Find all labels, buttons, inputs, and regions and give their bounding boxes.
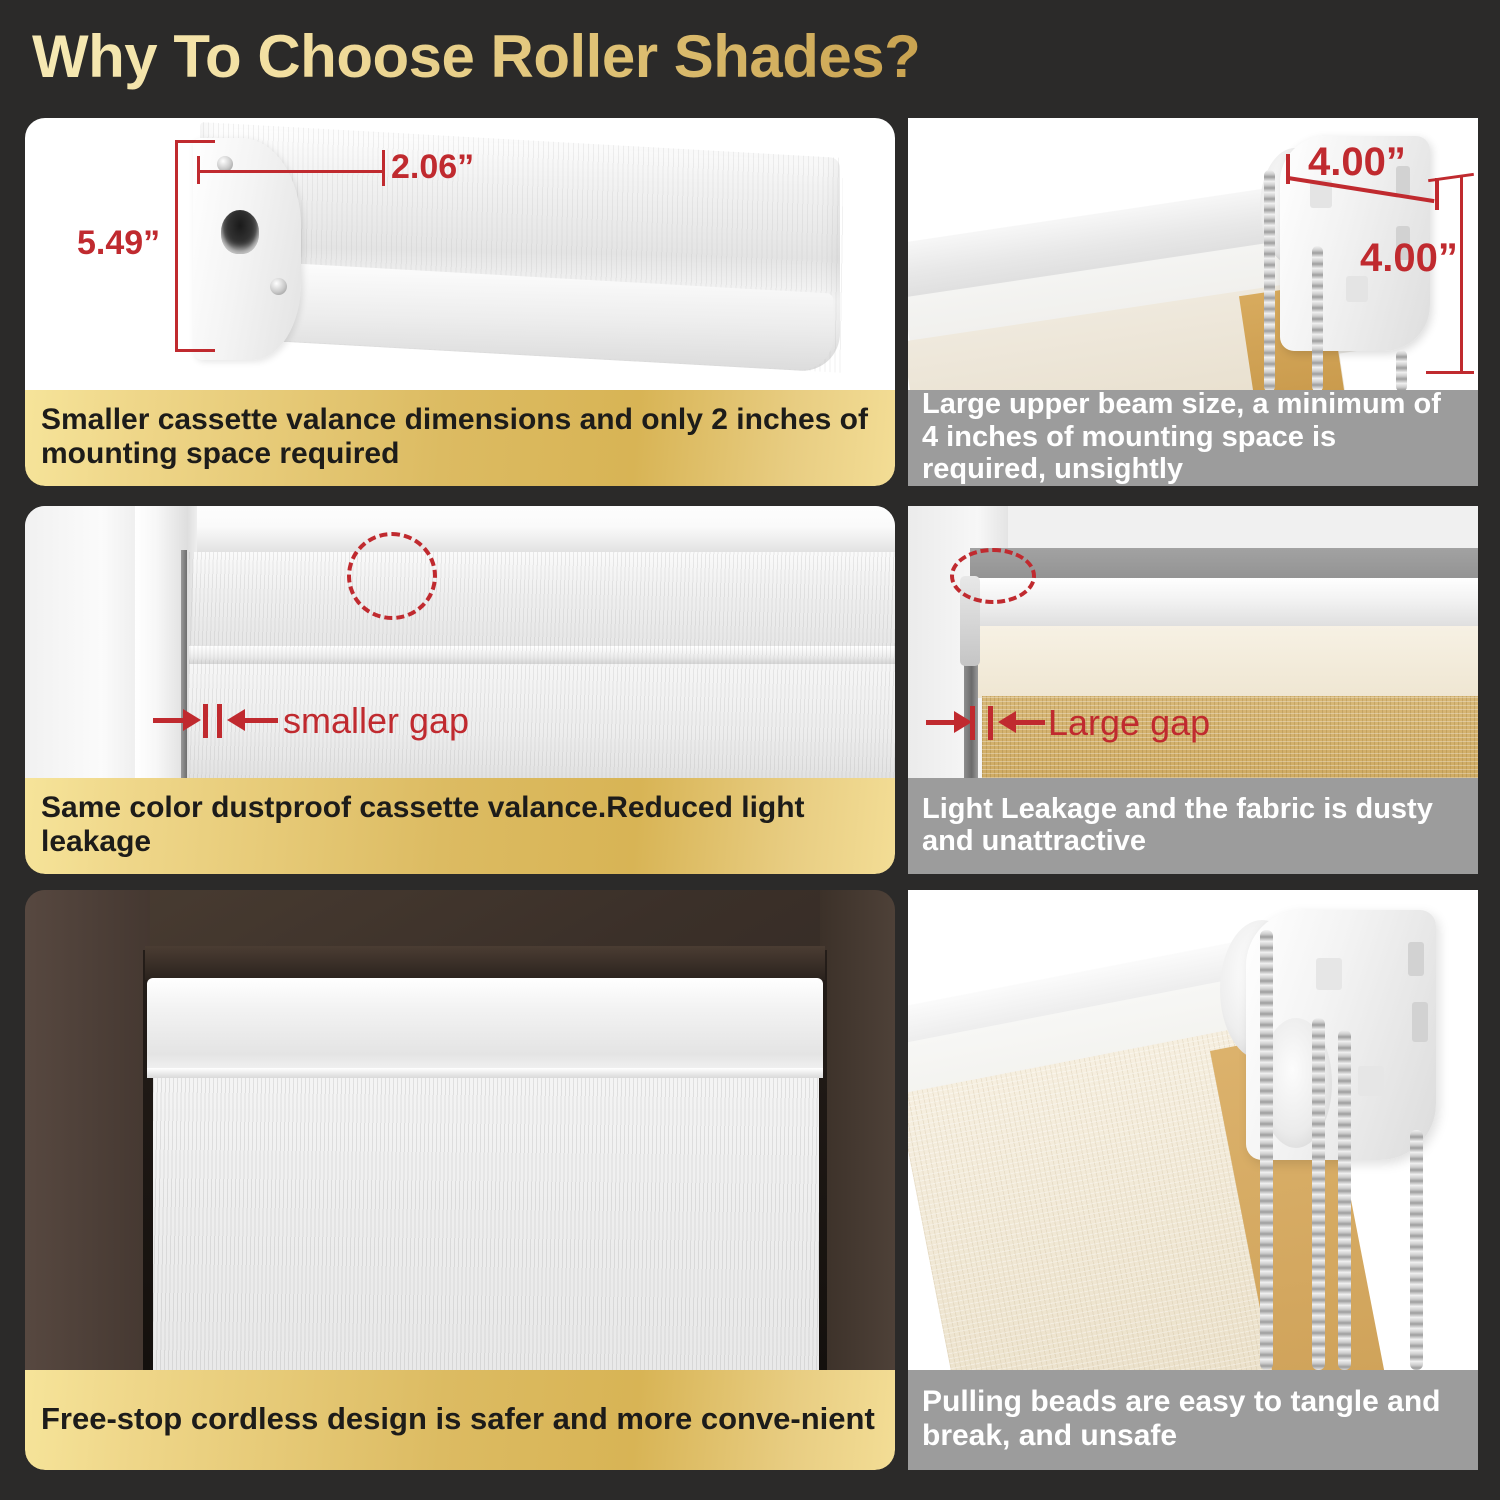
wall-left xyxy=(25,890,150,1370)
bracket-slot xyxy=(1412,1002,1428,1042)
gap-callout-label: smaller gap xyxy=(283,700,469,742)
gap-tick-b xyxy=(217,704,222,738)
bead-chain[interactable] xyxy=(1260,930,1273,1370)
bead-chain xyxy=(1396,350,1407,390)
panel-bad-gap-photo: Large gap xyxy=(908,506,1478,778)
infographic-page: Why To Choose Roller Shades? 5.49” xyxy=(0,0,1500,1500)
window-frame-top xyxy=(135,506,895,552)
width-dimension-tick-right xyxy=(1435,178,1439,210)
bead-chain[interactable] xyxy=(1338,1030,1351,1370)
gap-shadow xyxy=(181,550,187,778)
gap-arrow-right-head xyxy=(227,709,245,731)
width-dimension-label: 4.00” xyxy=(1308,140,1406,185)
panel-good-cordless-caption: Free-stop cordless design is safer and m… xyxy=(25,1370,895,1470)
bead-chain xyxy=(1312,246,1323,390)
panel-good-gap-caption: Same color dustproof cassette valance.Re… xyxy=(25,778,895,874)
width-dimension-tick-left xyxy=(197,156,200,184)
shade-fabric-cream xyxy=(974,626,1478,698)
bead-chain[interactable] xyxy=(1410,1130,1423,1370)
panel-good-cordless: Free-stop cordless design is safer and m… xyxy=(25,890,895,1470)
shade-fabric-texture xyxy=(153,1078,819,1370)
gap-arrow-left-shaft xyxy=(153,718,185,723)
panel-bad-gap-caption: Light Leakage and the fabric is dusty an… xyxy=(908,778,1478,874)
panel-good-gap: smaller gap Same color dustproof cassett… xyxy=(25,506,895,874)
panel-grid: 5.49” 2.06” Smaller cassette valance dim… xyxy=(0,0,1500,1500)
panel-good-dimensions-photo: 5.49” 2.06” xyxy=(25,118,895,390)
bead-chain[interactable] xyxy=(1312,1018,1325,1370)
wall-surface xyxy=(25,506,153,778)
width-dimension-line xyxy=(197,170,385,173)
panel-bad-dimensions-photo: 4.00” 4.00” xyxy=(908,118,1478,390)
height-dimension-label: 4.00” xyxy=(1360,236,1458,281)
height-dimension-line xyxy=(175,140,178,352)
gap-tick-a xyxy=(203,704,208,738)
height-dimension-tick-bottom xyxy=(175,349,215,352)
gap-arrow-left-shaft xyxy=(926,720,956,725)
highlight-circle xyxy=(950,548,1036,604)
panel-good-dimensions-caption: Smaller cassette valance dimensions and … xyxy=(25,390,895,486)
gap-arrow-right-head xyxy=(998,711,1016,733)
bracket-slot xyxy=(1408,942,1424,976)
panel-bad-dimensions: 4.00” 4.00” Large upper beam size, a min… xyxy=(908,118,1478,486)
highlight-circle xyxy=(347,532,437,620)
window-frame-side xyxy=(135,506,197,778)
wall-right xyxy=(820,890,895,1370)
gap-arrow-left-head xyxy=(183,709,201,731)
gap-tick-b xyxy=(988,706,993,740)
gap-tick-a xyxy=(970,706,975,740)
screw-icon xyxy=(270,278,287,295)
width-dimension-tick-right xyxy=(382,150,385,186)
panel-bad-dimensions-caption: Large upper beam size, a minimum of 4 in… xyxy=(908,390,1478,486)
cassette-roller-hole xyxy=(221,210,259,254)
panel-good-cordless-photo xyxy=(25,890,895,1370)
cassette-lip xyxy=(147,1068,823,1078)
gap-arrow-right-shaft xyxy=(244,718,278,723)
panel-bad-beads-caption: Pulling beads are easy to tangle and bre… xyxy=(908,1370,1478,1470)
width-dimension-label: 2.06” xyxy=(391,148,474,187)
bead-chain xyxy=(1264,170,1275,390)
panel-bad-gap: Large gap Light Leakage and the fabric i… xyxy=(908,506,1478,874)
panel-bad-beads-photo xyxy=(908,890,1478,1370)
height-dimension-line xyxy=(1460,176,1463,374)
panel-bad-beads: Pulling beads are easy to tangle and bre… xyxy=(908,890,1478,1470)
gap-callout-label: Large gap xyxy=(1048,702,1210,744)
height-dimension-tick-top xyxy=(175,140,215,143)
height-dimension-label: 5.49” xyxy=(77,224,160,263)
bracket-logo-mark xyxy=(1316,958,1342,990)
window-head-reveal xyxy=(145,946,825,980)
height-dimension-tick-bottom xyxy=(1426,371,1474,374)
shade-fabric-texture xyxy=(189,552,895,778)
panel-good-dimensions: 5.49” 2.06” Smaller cassette valance dim… xyxy=(25,118,895,486)
gap-arrow-right-shaft xyxy=(1015,720,1045,725)
cassette-valance xyxy=(147,978,823,1076)
width-dimension-tick-left xyxy=(1286,154,1290,184)
bracket-logo-mark xyxy=(1358,1066,1384,1096)
panel-good-gap-photo: smaller gap xyxy=(25,506,895,778)
